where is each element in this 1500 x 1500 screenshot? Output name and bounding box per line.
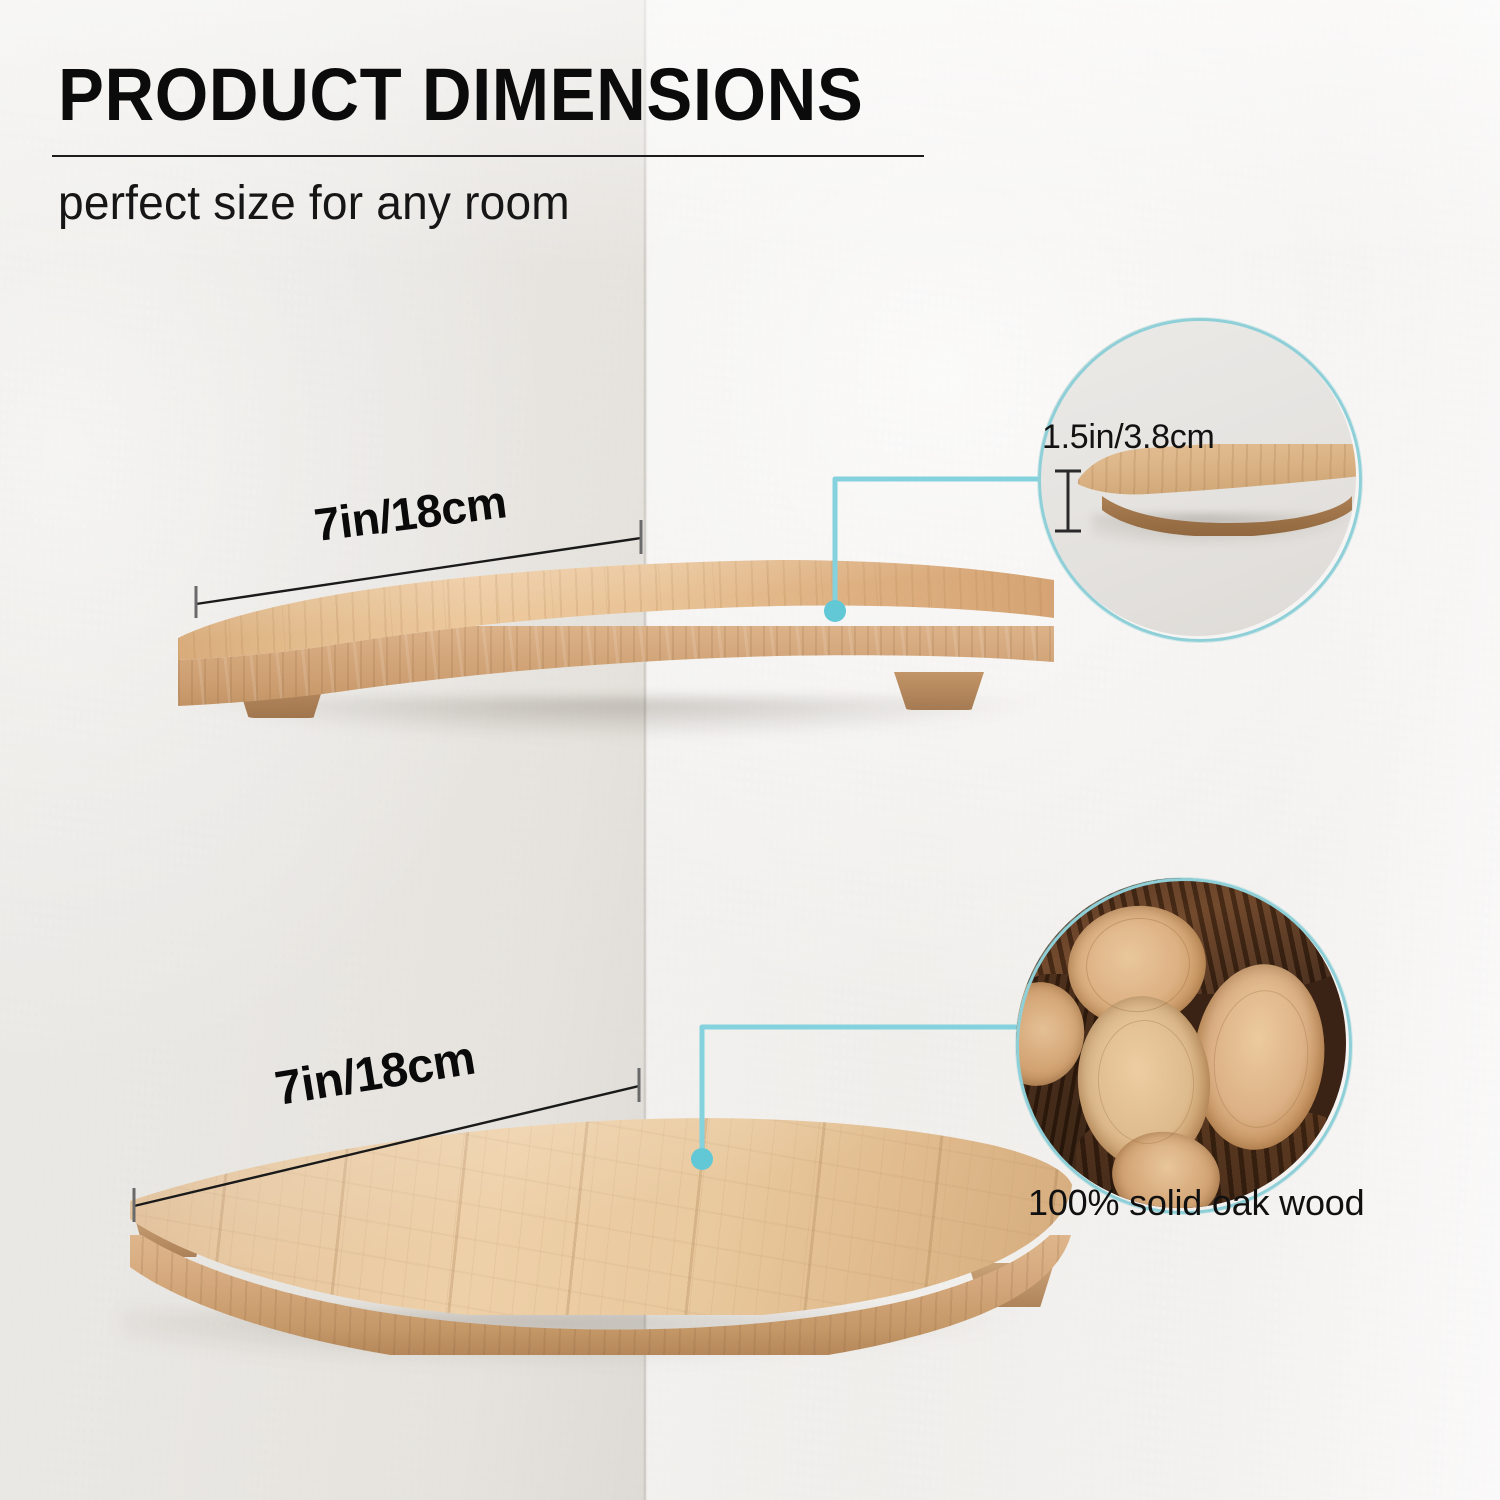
- product-dimensions-infographic: PRODUCT DIMENSIONS perfect size for any …: [0, 0, 1500, 1500]
- thickness-ibeam-marker: [1048, 468, 1088, 539]
- leader-line-material: [0, 0, 1500, 1500]
- callout-material-ring: [1016, 878, 1352, 1214]
- thickness-label: 1.5in/3.8cm: [1042, 418, 1214, 457]
- material-caption: 100% solid oak wood: [1028, 1182, 1364, 1224]
- leader-anchor-dot-bottom: [691, 1148, 713, 1170]
